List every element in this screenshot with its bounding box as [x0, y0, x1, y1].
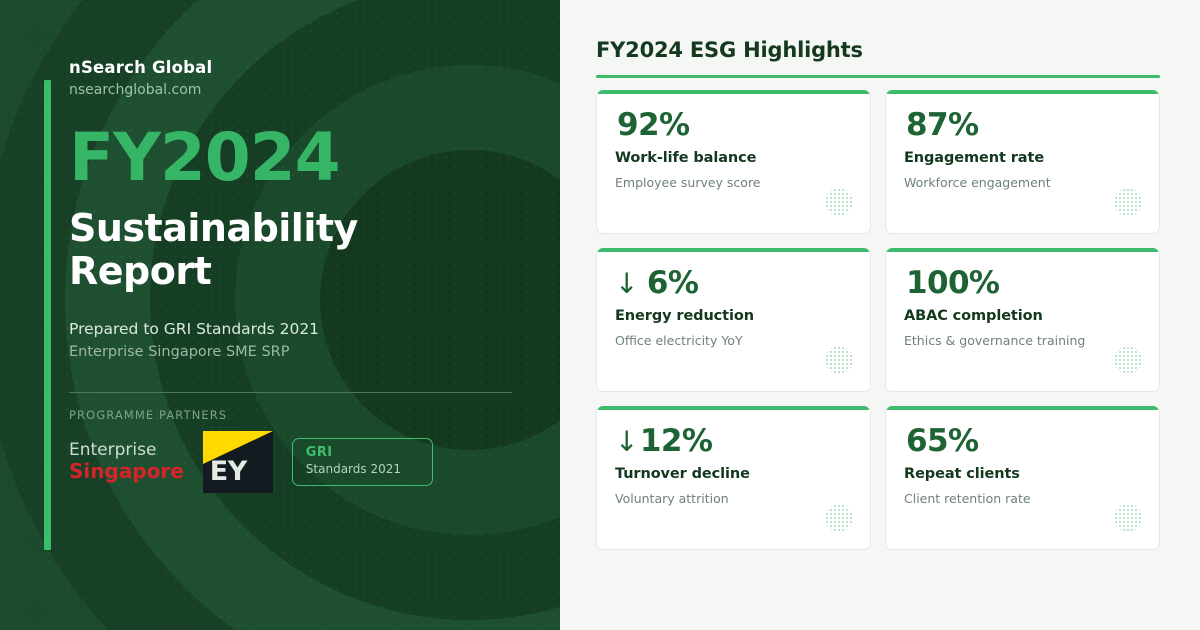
enterprise-singapore-line-2: Singapore — [69, 460, 184, 482]
gri-badge-subtitle: Standards 2021 — [306, 462, 432, 476]
card-value: 87% — [904, 109, 1139, 142]
card-label: Turnover decline — [615, 466, 850, 482]
ey-logo-text: EY — [203, 456, 247, 493]
card-value: ↓6% — [615, 267, 850, 300]
dot-circle-icon — [825, 346, 853, 374]
dot-circle-icon — [825, 504, 853, 532]
ey-logo: EY — [203, 431, 273, 493]
report-title-line-1: Sustainability — [69, 207, 539, 250]
panel-title-rule — [596, 75, 1160, 78]
card-value-number: 12% — [640, 423, 712, 459]
gri-badge-title: GRI — [306, 445, 432, 460]
partner-logos: Enterprise Singapore EY GRI Standards 20… — [69, 431, 539, 493]
report-cover-page: nSearch Global nsearchglobal.com FY2024 … — [0, 0, 1200, 630]
card-value: 100% — [904, 267, 1139, 300]
card-value: 65% — [904, 425, 1139, 458]
card-top-accent — [597, 90, 870, 94]
highlight-card: 100% ABAC completion Ethics & governance… — [885, 248, 1160, 392]
left-hero-panel: nSearch Global nsearchglobal.com FY2024 … — [0, 0, 560, 630]
card-note: Employee survey score — [615, 175, 850, 190]
card-note: Ethics & governance training — [904, 333, 1139, 348]
highlight-cards-grid: 92% Work-life balance Employee survey sc… — [596, 90, 1160, 550]
panel-title: FY2024 ESG Highlights — [596, 38, 1160, 62]
card-value-number: 65% — [906, 423, 978, 459]
arrow-down-icon: ↓ — [615, 425, 638, 458]
report-year: FY2024 — [69, 125, 539, 191]
highlight-card: ↓6% Energy reduction Office electricity … — [596, 248, 871, 392]
card-label: Work-life balance — [615, 150, 850, 166]
card-top-accent — [597, 248, 870, 252]
highlight-card: ↓12% Turnover decline Voluntary attritio… — [596, 406, 871, 550]
card-note: Workforce engagement — [904, 175, 1139, 190]
card-note: Client retention rate — [904, 491, 1139, 506]
partners-label: PROGRAMME PARTNERS — [69, 408, 539, 422]
card-note: Office electricity YoY — [615, 333, 850, 348]
arrow-down-icon: ↓ — [615, 267, 638, 300]
enterprise-singapore-logo: Enterprise Singapore — [69, 441, 184, 483]
dot-circle-icon — [1114, 188, 1142, 216]
enterprise-singapore-line-1: Enterprise — [69, 441, 184, 460]
dot-circle-icon — [1114, 504, 1142, 532]
card-top-accent — [597, 406, 870, 410]
card-value-number: 6% — [647, 265, 698, 301]
card-value: ↓12% — [615, 425, 850, 458]
left-content: nSearch Global nsearchglobal.com FY2024 … — [69, 0, 539, 630]
esg-highlights-panel: FY2024 ESG Highlights 92% Work-life bala… — [560, 0, 1200, 630]
card-top-accent — [886, 90, 1159, 94]
card-value-number: 100% — [906, 265, 999, 301]
dot-circle-icon — [1114, 346, 1142, 374]
accent-bar — [44, 80, 51, 550]
card-value-number: 92% — [617, 107, 689, 143]
brand-url: nsearchglobal.com — [69, 82, 539, 98]
card-label: ABAC completion — [904, 308, 1139, 324]
highlight-card: 65% Repeat clients Client retention rate — [885, 406, 1160, 550]
highlight-card: 92% Work-life balance Employee survey sc… — [596, 90, 871, 234]
report-title-line-2: Report — [69, 250, 539, 293]
card-label: Repeat clients — [904, 466, 1139, 482]
standards-line: Prepared to GRI Standards 2021 — [69, 320, 539, 338]
dot-circle-icon — [825, 188, 853, 216]
brand-name: nSearch Global — [69, 58, 539, 77]
report-title: Sustainability Report — [69, 207, 539, 294]
gri-badge: GRI Standards 2021 — [292, 438, 433, 486]
card-label: Energy reduction — [615, 308, 850, 324]
card-label: Engagement rate — [904, 150, 1139, 166]
card-value: 92% — [615, 109, 850, 142]
card-top-accent — [886, 406, 1159, 410]
programme-line: Enterprise Singapore SME SRP — [69, 344, 539, 360]
card-top-accent — [886, 248, 1159, 252]
divider — [69, 392, 512, 393]
card-note: Voluntary attrition — [615, 491, 850, 506]
highlight-card: 87% Engagement rate Workforce engagement — [885, 90, 1160, 234]
card-value-number: 87% — [906, 107, 978, 143]
